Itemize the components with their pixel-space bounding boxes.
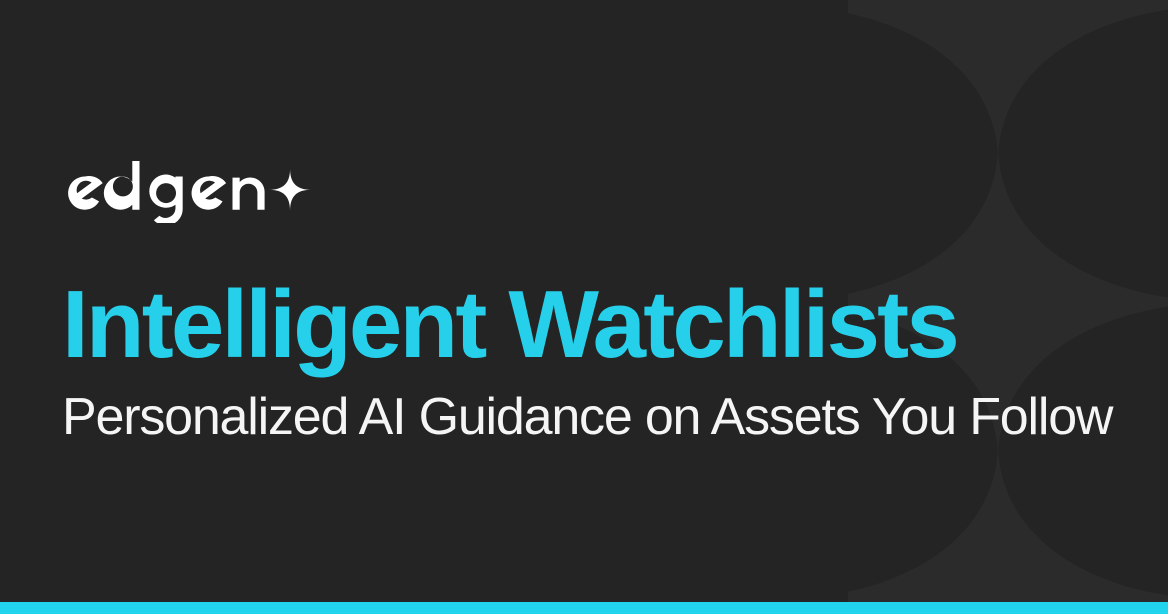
brand-logo: edgen+: [62, 160, 312, 224]
edgen-wordmark: edgen+: [62, 161, 312, 223]
bottom-accent-bar: [0, 602, 1168, 614]
promo-slide: edgen+ Intelligent Watchlists Personaliz…: [0, 0, 1168, 614]
hero-headline: Intelligent Watchlists: [62, 277, 957, 373]
hero-subtitle: Personalized AI Guidance on Assets You F…: [62, 391, 1112, 443]
